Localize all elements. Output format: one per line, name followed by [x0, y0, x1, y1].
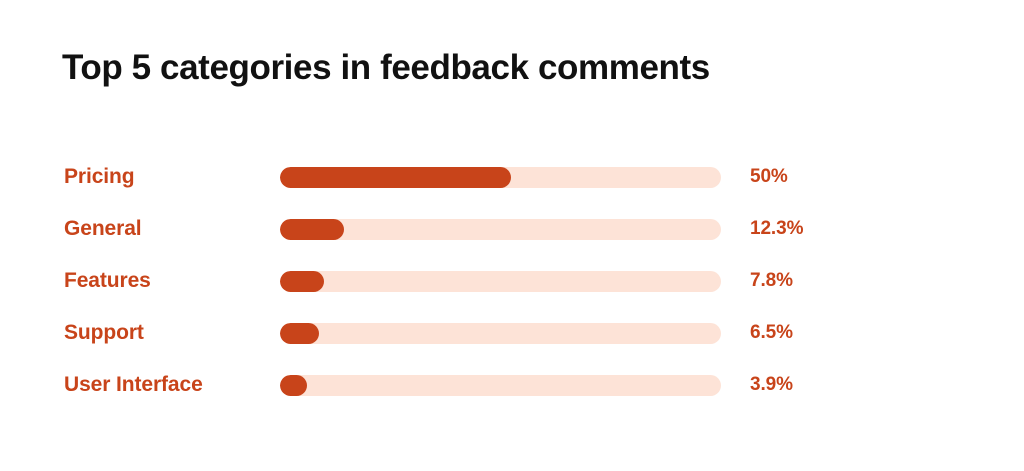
chart-title: Top 5 categories in feedback comments	[62, 46, 710, 90]
bar-row: Support6.5%	[0, 307, 1024, 359]
bar-fill	[280, 271, 324, 292]
bar-fill	[280, 167, 511, 188]
bar-row: Features7.8%	[0, 255, 1024, 307]
bar-row-value: 6.5%	[750, 307, 793, 359]
bar-row: User Interface3.9%	[0, 359, 1024, 411]
bar-row-value: 7.8%	[750, 255, 793, 307]
chart-container: Top 5 categories in feedback comments Pr…	[0, 0, 1024, 471]
bar-row: General12.3%	[0, 203, 1024, 255]
bar-row-label: General	[64, 203, 142, 255]
bar-row-value: 12.3%	[750, 203, 803, 255]
bar-row-label: Support	[64, 307, 144, 359]
bar-row: Pricing50%	[0, 151, 1024, 203]
bar-fill	[280, 219, 344, 240]
bar-row-label: Pricing	[64, 151, 134, 203]
bar-row-value: 3.9%	[750, 359, 793, 411]
bar-fill	[280, 323, 319, 344]
bar-row-label: User Interface	[64, 359, 203, 411]
bar-track	[280, 323, 721, 344]
bar-row-label: Features	[64, 255, 151, 307]
bar-fill	[280, 375, 307, 396]
bar-track	[280, 167, 721, 188]
bar-rows-list: Pricing50%General12.3%Features7.8%Suppor…	[0, 151, 1024, 411]
bar-track	[280, 271, 721, 292]
bar-track	[280, 219, 721, 240]
bar-row-value: 50%	[750, 151, 788, 203]
bar-track	[280, 375, 721, 396]
